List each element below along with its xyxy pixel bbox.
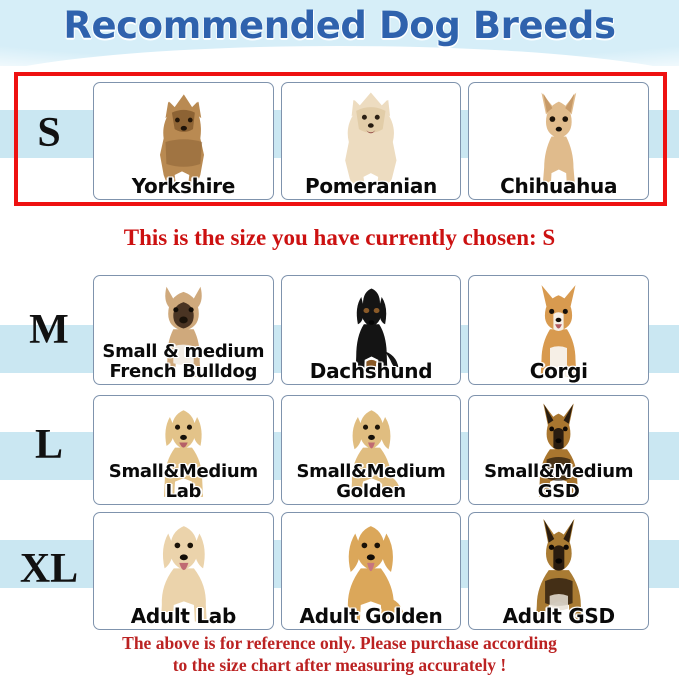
size-label-xl: XL	[12, 548, 86, 590]
footer-line-1: The above is for reference only. Please …	[0, 632, 679, 654]
breed-card-small-medium-golden[interactable]: Small&Medium Golden	[281, 395, 462, 505]
breed-card-list-l: Small&Medium Lab	[93, 395, 649, 505]
breed-card-list-m: Small & medium French Bulldog	[93, 275, 649, 385]
breed-card-chihuahua[interactable]: Chihuahua	[468, 82, 649, 200]
breed-label: Small & medium French Bulldog	[94, 342, 273, 382]
breed-label: Corgi	[469, 361, 648, 382]
breed-label: Chihuahua	[469, 176, 648, 197]
breed-card-dachshund[interactable]: Dachshund	[281, 275, 462, 385]
breed-card-adult-lab[interactable]: Adult Lab	[93, 512, 274, 630]
breed-label: Dachshund	[282, 361, 461, 382]
chosen-size-notice: This is the size you have currently chos…	[0, 225, 679, 251]
breed-card-list-s: Yorkshire	[93, 82, 649, 200]
breed-card-french-bulldog[interactable]: Small & medium French Bulldog	[93, 275, 274, 385]
breed-label: Yorkshire	[94, 176, 273, 197]
breed-label: Pomeranian	[282, 176, 461, 197]
breed-card-corgi[interactable]: Corgi	[468, 275, 649, 385]
recommended-dog-breeds-chart: Recommended Dog Breeds S	[0, 0, 679, 678]
breed-label: Adult Lab	[94, 606, 273, 627]
breed-label: Small&Medium GSD	[469, 462, 648, 502]
page-title: Recommended Dog Breeds	[0, 4, 679, 47]
footer-disclaimer: The above is for reference only. Please …	[0, 632, 679, 676]
breed-label: Adult GSD	[469, 606, 648, 627]
size-label-l: L	[12, 424, 86, 466]
breed-card-small-medium-lab[interactable]: Small&Medium Lab	[93, 395, 274, 505]
breed-card-adult-gsd[interactable]: Adult GSD	[468, 512, 649, 630]
breed-card-pomeranian[interactable]: Pomeranian	[281, 82, 462, 200]
size-row-m: M	[0, 275, 679, 385]
breed-card-small-medium-gsd[interactable]: Small&Medium GSD	[468, 395, 649, 505]
size-label-m: M	[12, 309, 86, 351]
size-label-s: S	[12, 112, 86, 154]
breed-card-list-xl: Adult Lab	[93, 512, 649, 630]
size-row-l: L	[0, 395, 679, 505]
breed-card-yorkshire[interactable]: Yorkshire	[93, 82, 274, 200]
footer-line-2: to the size chart after measuring accura…	[0, 654, 679, 676]
breed-label: Small&Medium Golden	[282, 462, 461, 502]
breed-card-adult-golden[interactable]: Adult Golden	[281, 512, 462, 630]
breed-label: Adult Golden	[282, 606, 461, 627]
size-row-xl: XL	[0, 512, 679, 630]
breed-label: Small&Medium Lab	[94, 462, 273, 502]
size-row-s: S	[0, 82, 679, 200]
